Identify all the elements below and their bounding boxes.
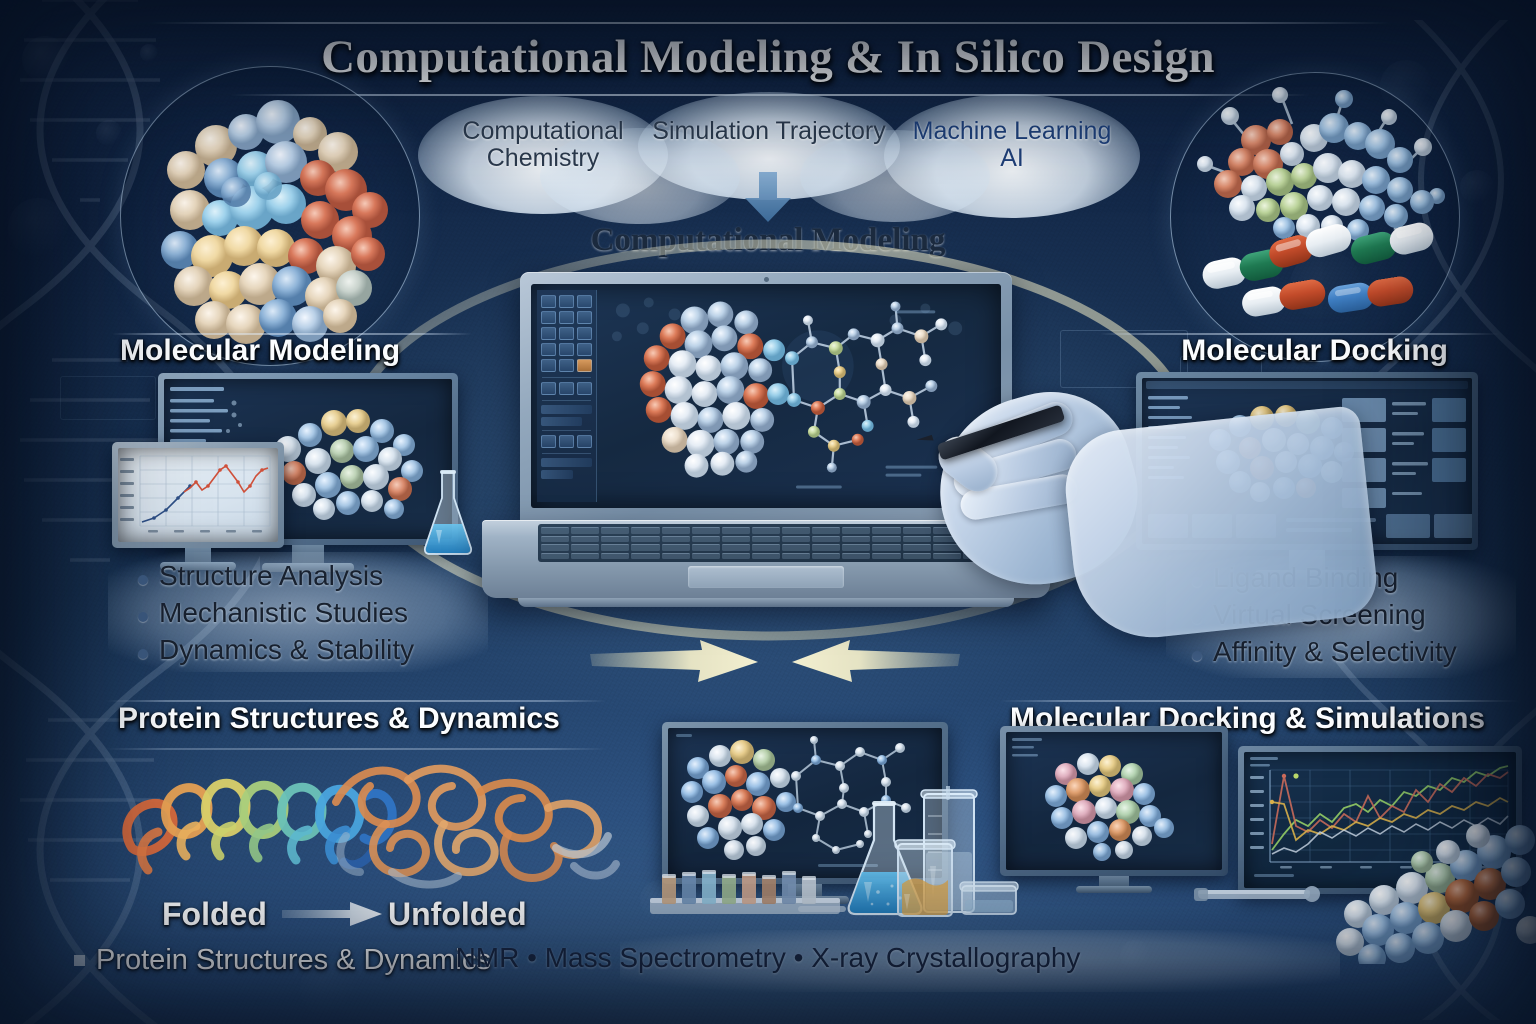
state-label-unfolded: Unfolded (388, 896, 527, 933)
laptop-lid (520, 272, 1012, 524)
tool-zoom-icon[interactable] (577, 295, 592, 308)
drug-capsules-illustration (1196, 222, 1464, 332)
key (872, 553, 900, 560)
key (812, 536, 840, 543)
key (782, 527, 810, 534)
key (842, 536, 870, 543)
cloud-label-line2: Chemistry (438, 145, 648, 172)
bullet-dot-icon (138, 575, 148, 585)
tool-color-icon[interactable] (577, 359, 592, 372)
cloud-label-line1: Machine Learning (898, 118, 1126, 145)
analytical-techniques-caption: NMR • Mass Spectrometry • X-ray Crystall… (0, 942, 1536, 974)
tool-export-icon[interactable] (541, 435, 556, 448)
tool-settings-icon[interactable] (577, 435, 592, 448)
key (631, 544, 659, 551)
key (631, 553, 659, 560)
cycle-arrow-right-icon (790, 640, 960, 684)
key (903, 527, 931, 534)
cloud-shape-center (638, 92, 900, 200)
key (571, 544, 599, 551)
header-divider-top (150, 22, 1390, 24)
bullet-label: Mechanistic Studies (159, 597, 408, 629)
sample-vial-rack (648, 868, 848, 922)
toolbar-divider (542, 400, 591, 401)
toolbar-divider (542, 430, 591, 431)
tool-hbond-icon[interactable] (541, 343, 556, 356)
monitor-screen (118, 448, 278, 542)
viewer-toolbar-panel[interactable] (537, 290, 597, 502)
line-chart-monitor (112, 442, 284, 548)
key (571, 553, 599, 560)
laptop-molecular-scene[interactable] (597, 290, 995, 502)
cloud-label-machine-learning-ai: Machine Learning AI (898, 118, 1126, 171)
bullet-dot-icon (1192, 651, 1202, 661)
key (752, 536, 780, 543)
key (541, 544, 569, 551)
key (872, 544, 900, 551)
cloud-label-computational-chemistry: Computational Chemistry (438, 118, 648, 171)
laptop-webcam-icon (764, 277, 769, 282)
tool-water-icon[interactable] (577, 343, 592, 356)
key (812, 527, 840, 534)
panel-field-row[interactable] (541, 405, 592, 414)
toolbar-divider (542, 453, 591, 454)
tool-select-icon[interactable] (541, 295, 556, 308)
key (933, 553, 961, 560)
laptop-keyboard[interactable] (538, 524, 994, 562)
key (752, 553, 780, 560)
key (812, 553, 840, 560)
key (692, 544, 720, 551)
molecular-docking-title: Molecular Docking (1181, 334, 1448, 368)
key (903, 544, 931, 551)
key (752, 544, 780, 551)
tool-align-icon[interactable] (541, 359, 556, 372)
molecular-modeling-bullets: Structure Analysis Mechanistic Studies D… (138, 560, 414, 671)
key (722, 544, 750, 551)
key (662, 536, 690, 543)
bullet-label: Affinity & Selectivity (1213, 636, 1457, 668)
key (812, 544, 840, 551)
molecular-modeling-title: Molecular Modeling (120, 334, 400, 368)
circuit-motif-3 (60, 376, 156, 420)
key (601, 527, 629, 534)
key (541, 536, 569, 543)
key (692, 527, 720, 534)
bokeh-particle (1460, 170, 1494, 204)
laptop-trackpad[interactable] (688, 566, 844, 588)
key (842, 553, 870, 560)
bullet-item: Dynamics & Stability (138, 634, 414, 666)
key (752, 527, 780, 534)
bullet-label: Dynamics & Stability (159, 634, 414, 666)
viewer-tool-grid-tertiary[interactable] (541, 435, 592, 448)
tool-label-icon[interactable] (559, 311, 574, 324)
key (571, 536, 599, 543)
poster-canvas: Computational Modeling & In Silico Desig… (0, 0, 1536, 1024)
protein-cluster-foreground-right (1330, 796, 1536, 964)
panel-status-row (541, 470, 573, 479)
viewer-tool-grid-secondary[interactable] (541, 382, 592, 395)
arrow-down-icon (741, 172, 795, 222)
key (903, 536, 931, 543)
tool-clip-icon[interactable] (559, 359, 574, 372)
tool-surface-icon[interactable] (577, 311, 592, 324)
tool-import-icon[interactable] (559, 435, 574, 448)
panel-field-row[interactable] (541, 417, 582, 426)
state-label-folded: Folded (162, 896, 267, 933)
docking-bottom-molecule-render (1006, 732, 1222, 870)
protein-spacefill-illustration-left (128, 74, 412, 358)
key (692, 536, 720, 543)
glove-wrist-cuff (1060, 405, 1380, 645)
key (872, 536, 900, 543)
key (903, 553, 931, 560)
key (601, 544, 629, 551)
key (722, 536, 750, 543)
key (662, 544, 690, 551)
key (631, 536, 659, 543)
tool-ligand-icon[interactable] (559, 343, 574, 356)
key (782, 536, 810, 543)
monitor-base (1076, 886, 1152, 893)
cloud-label-line1: Computational (438, 118, 648, 145)
tool-rotate-icon[interactable] (559, 295, 574, 308)
key (541, 553, 569, 560)
key (662, 553, 690, 560)
bokeh-particle (96, 120, 122, 146)
key (722, 527, 750, 534)
key (601, 536, 629, 543)
key (571, 527, 599, 534)
keyboard-keys[interactable] (541, 527, 991, 559)
toolbar-divider (542, 377, 591, 378)
bullet-label: Structure Analysis (159, 560, 383, 592)
laptop-front-edge (518, 598, 1014, 607)
key (782, 553, 810, 560)
unfolded-protein-chain-illustration (330, 748, 630, 906)
key (631, 527, 659, 534)
sample-jar-amber (892, 836, 958, 920)
cycle-arrow-left-icon (590, 640, 760, 684)
key (842, 544, 870, 551)
modeling-line-chart (118, 448, 278, 542)
laptop-screen (531, 284, 1001, 508)
petri-dish (958, 876, 1020, 920)
cloud-label-line1: Simulation Trajectory (648, 118, 890, 145)
tool-sticks-icon[interactable] (559, 327, 574, 340)
docking-app-toolbar (1146, 381, 1468, 389)
cloud-label-simulation-trajectory: Simulation Trajectory (648, 118, 890, 145)
monitor-screen (1006, 732, 1222, 870)
bullet-item: Mechanistic Studies (138, 597, 414, 629)
tool-ribbon-icon[interactable] (541, 327, 556, 340)
cloud-label-line2: AI (898, 145, 1126, 172)
tool-step-icon[interactable] (577, 382, 592, 395)
bullet-dot-icon (138, 612, 148, 622)
docking-monitor-bottom (1000, 726, 1228, 876)
key (782, 544, 810, 551)
key (692, 553, 720, 560)
key (601, 553, 629, 560)
key (722, 553, 750, 560)
bullet-dot-icon (138, 649, 148, 659)
instrument-slide-bar (1194, 876, 1328, 910)
erlenmeyer-flask-left (420, 468, 476, 556)
tool-spheres-icon[interactable] (577, 327, 592, 340)
protein-structures-title: Protein Structures & Dynamics (118, 702, 560, 736)
bullet-item: Affinity & Selectivity (1192, 636, 1457, 668)
key (842, 527, 870, 534)
panel-status-row (541, 458, 592, 467)
tool-measure-icon[interactable] (541, 311, 556, 324)
tool-play-icon[interactable] (541, 382, 556, 395)
key (872, 527, 900, 534)
viewer-tool-grid[interactable] (541, 295, 592, 372)
tool-pause-icon[interactable] (559, 382, 574, 395)
key (541, 527, 569, 534)
bullet-item: Structure Analysis (138, 560, 414, 592)
key (662, 527, 690, 534)
